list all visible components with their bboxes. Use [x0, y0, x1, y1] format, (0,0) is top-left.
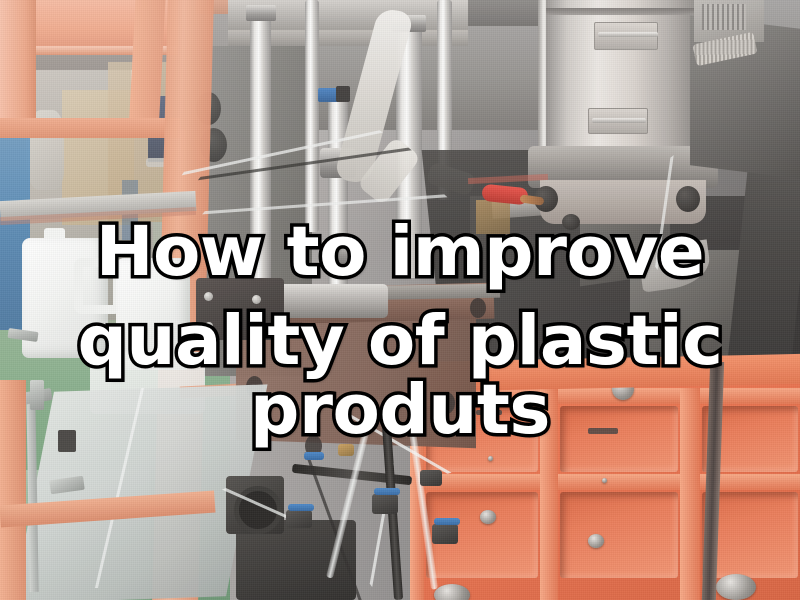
flange-bolt	[676, 186, 700, 212]
mold-bolt	[588, 534, 604, 548]
mold-slot	[588, 428, 618, 434]
clamp-fixture	[30, 380, 44, 410]
brass-fitting	[338, 444, 354, 456]
machine-frame-column	[0, 0, 36, 130]
push-fit-connector	[286, 510, 312, 528]
barrel-screw	[592, 118, 646, 123]
cylinder-bolt	[204, 292, 213, 301]
push-fit-connector	[432, 524, 458, 544]
plate-hole	[470, 298, 486, 318]
mold-rib-vertical	[540, 388, 558, 600]
connector-blue-collar	[304, 452, 324, 460]
machine-frame-rail	[0, 118, 180, 138]
connector-blue-collar	[434, 518, 460, 525]
rod-collar	[322, 240, 356, 266]
vent-grille	[702, 4, 746, 30]
mold-pocket	[560, 406, 678, 472]
mold-slot	[476, 410, 502, 415]
clear-pneumatic-tube	[191, 32, 448, 215]
barrel-band	[546, 8, 698, 15]
connector-blue-collar	[374, 488, 400, 495]
connector-blue-collar	[288, 504, 314, 511]
mold-rib-vertical	[680, 388, 700, 600]
cylinder-bolt	[252, 295, 261, 304]
cylinder-bolt	[205, 322, 213, 330]
mold-pin	[488, 456, 493, 461]
clamp-pad	[58, 430, 76, 452]
mold-bolt	[716, 574, 756, 600]
push-fit-connector	[372, 494, 398, 514]
mold-pin	[602, 478, 607, 483]
barrel-screw	[598, 32, 658, 37]
background-photo	[0, 0, 800, 600]
machine-frame-post	[0, 380, 26, 600]
brass-block	[476, 200, 510, 234]
push-fit-connector	[420, 470, 442, 486]
mold-pocket	[560, 492, 678, 578]
cylinder-mount-block	[196, 278, 284, 340]
screenshot-canvas: How to improve quality of plastic produt…	[0, 0, 800, 600]
flange-bolt	[562, 214, 580, 230]
bottle-handle	[74, 258, 122, 314]
